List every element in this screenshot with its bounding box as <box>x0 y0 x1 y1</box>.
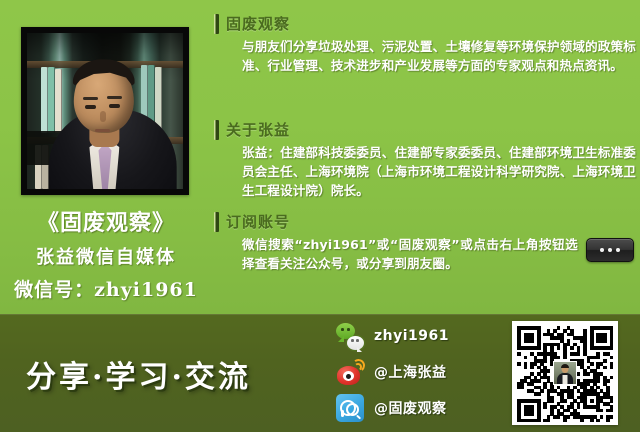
figure-brow <box>107 96 122 99</box>
section-heading: 固废观察 <box>214 14 640 34</box>
section-body-text: 张益：住建部科技委委员、住建部专家委委员、住建部环境卫生标准委员会主任、上海环境… <box>214 143 640 200</box>
wechat-icon <box>336 322 364 350</box>
wechat-id-label: 微信号：zhyi1961 <box>0 275 212 302</box>
book <box>41 67 48 133</box>
figure-mouth <box>95 129 110 132</box>
portrait-photo <box>27 33 183 189</box>
section-heading-text: 关于张益 <box>226 121 290 139</box>
section-heading: 关于张益 <box>214 120 640 140</box>
social-accounts-list: zhyi1961 @上海张益 @固废观察 <box>336 318 506 426</box>
social-row-wechat[interactable]: zhyi1961 <box>336 318 506 354</box>
figure-nose <box>100 111 106 122</box>
social-row-weibo[interactable]: @上海张益 <box>336 354 506 390</box>
ellipsis-dot-icon <box>600 248 604 252</box>
right-column: 固废观察 与朋友们分享垃圾处理、污泥处置、土壤修复等环境保护领域的政策标准、行业… <box>214 0 640 314</box>
section-heading: 订阅账号 <box>214 212 640 232</box>
figure-brow <box>83 97 98 100</box>
social-label: zhyi1961 <box>374 328 449 344</box>
section-about-zhangyi: 关于张益 张益：住建部科技委委员、住建部专家委委员、住建部环境卫生标准委员会主任… <box>214 120 640 200</box>
social-label: @上海张益 <box>374 362 447 382</box>
social-label: @固废观察 <box>374 398 447 418</box>
ellipsis-dot-icon <box>608 248 612 252</box>
social-row-qsearch[interactable]: @固废观察 <box>336 390 506 426</box>
book <box>48 67 55 133</box>
poster-card: 《固废观察》 张益微信自媒体 微信号：zhyi1961 固废观察 与朋友们分享垃… <box>0 0 640 432</box>
figure-eye <box>109 104 120 108</box>
figure-eye <box>85 105 96 109</box>
qr-code-canvas <box>517 326 613 420</box>
portrait-frame <box>21 27 189 195</box>
more-options-button[interactable] <box>586 238 634 262</box>
section-subscribe: 订阅账号 微信搜索“zhyi1961”或“固废观察”或点击右上角按钮选择查看关注… <box>214 212 640 273</box>
qsearch-icon <box>336 394 364 422</box>
footer-slogan: 分享·学习·交流 <box>26 352 251 396</box>
section-accent-bar <box>214 14 219 34</box>
page-subtitle: 张益微信自媒体 <box>0 243 212 269</box>
left-column: 《固废观察》 张益微信自媒体 微信号：zhyi1961 <box>0 0 212 314</box>
ellipsis-dot-icon <box>616 248 620 252</box>
section-body-text: 微信搜索“zhyi1961”或“固废观察”或点击右上角按钮选择查看关注公众号，或… <box>214 235 640 273</box>
section-accent-bar <box>214 120 219 140</box>
book <box>55 69 62 133</box>
section-heading-text: 固废观察 <box>226 15 290 33</box>
qr-center-logo <box>553 361 577 385</box>
weibo-icon <box>336 358 364 386</box>
section-guf-ei-guancha: 固废观察 与朋友们分享垃圾处理、污泥处置、土壤修复等环境保护领域的政策标准、行业… <box>214 14 640 75</box>
page-title: 《固废观察》 <box>0 205 212 237</box>
section-heading-text: 订阅账号 <box>226 213 290 231</box>
section-body-text: 与朋友们分享垃圾处理、污泥处置、土壤修复等环境保护领域的政策标准、行业管理、技术… <box>214 37 640 75</box>
qr-code[interactable] <box>512 321 618 425</box>
section-accent-bar <box>214 212 219 232</box>
